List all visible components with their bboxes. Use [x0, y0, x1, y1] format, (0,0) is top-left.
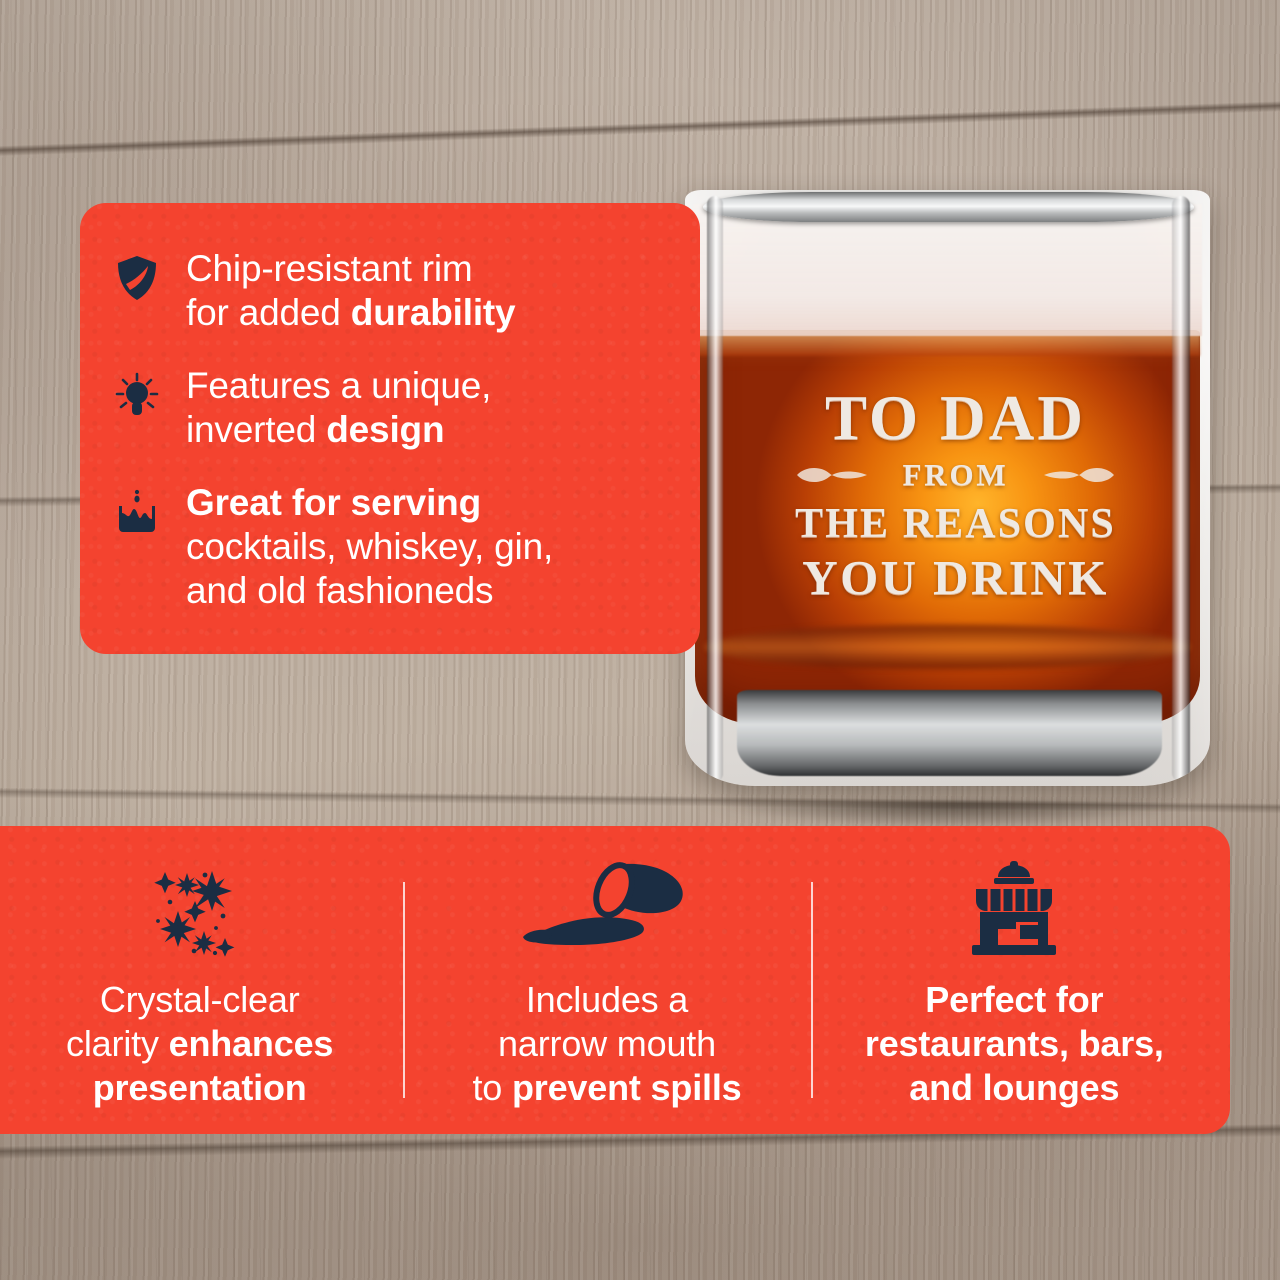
spilled-cup-icon [517, 856, 697, 962]
glass-left-edge-highlight [707, 196, 723, 782]
whiskey-liquid [695, 330, 1200, 724]
cocktail-glass-splash-icon [110, 485, 164, 539]
feature-text-serving: Great for servingcocktails, whiskey, gin… [186, 479, 553, 614]
glass-base [737, 690, 1162, 776]
features-panel-bottom: Crystal-clearclarity enhancespresentatio… [0, 826, 1230, 1134]
glass-rim [703, 192, 1194, 222]
whiskey-bottom-reflection [705, 625, 1190, 669]
feature-item-design: Features a unique,inverted design [110, 362, 674, 453]
infographic-canvas: TO DAD FROM THE REASONS YOU DRINK [0, 0, 1280, 1280]
shield-icon [110, 251, 164, 305]
feature-text-prevent-spills: Includes anarrow mouthto prevent spills [472, 978, 741, 1110]
product-photo-whiskey-glass: TO DAD FROM THE REASONS YOU DRINK [660, 186, 1240, 836]
glass-right-edge-highlight [1172, 196, 1190, 782]
features-panel-top: Chip-resistant rimfor added durability [80, 203, 700, 654]
feature-item-serving: Great for servingcocktails, whiskey, gin… [110, 479, 674, 614]
glass-upper-empty-area [693, 204, 1202, 336]
feature-item-durability: Chip-resistant rimfor added durability [110, 245, 674, 336]
feature-text-venues: Perfect forrestaurants, bars,and lounges [865, 978, 1164, 1110]
feature-column-prevent-spills: Includes anarrow mouthto prevent spills [403, 826, 810, 1134]
feature-column-venues: Perfect forrestaurants, bars,and lounges [811, 826, 1230, 1134]
glass-body: TO DAD FROM THE REASONS YOU DRINK [685, 190, 1210, 786]
feature-column-clarity: Crystal-clearclarity enhancespresentatio… [0, 826, 403, 1134]
feature-text-durability: Chip-resistant rimfor added durability [186, 245, 515, 336]
feature-text-design: Features a unique,inverted design [186, 362, 491, 453]
feature-text-clarity: Crystal-clearclarity enhancespresentatio… [66, 978, 333, 1110]
sparkles-icon [150, 856, 250, 962]
storefront-icon [966, 856, 1062, 962]
lightbulb-icon [110, 368, 164, 422]
